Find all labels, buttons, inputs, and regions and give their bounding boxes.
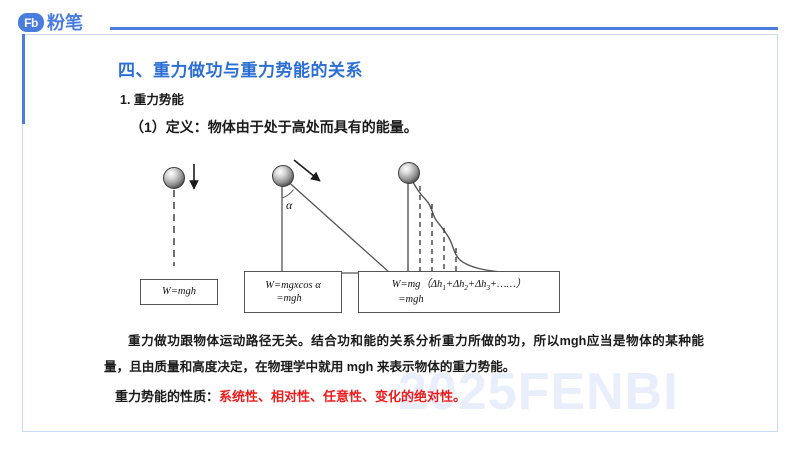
formula-boxes-row: W=mgh W=mgxcos α =mgh W=mg（Δh1+Δh2+Δh3+…… (140, 271, 560, 313)
fenbi-logo-icon: Fb (18, 13, 44, 32)
formula-incline-line2: =mgh (276, 292, 301, 305)
angle-label: α (286, 198, 293, 212)
properties-value: 系统性、相对性、任意性、变化的绝对性。 (219, 389, 466, 404)
angle-arc (282, 190, 294, 199)
ball-icon (399, 163, 420, 184)
page-title: 四、重力做功与重力势能的关系 (118, 56, 363, 81)
diagram-curved-path (399, 163, 513, 274)
body-paragraph: 重力做功跟物体运动路径无关。结合功和能的关系分析重力所做的功，所以mgh应当是物… (104, 328, 704, 380)
formula-box-incline: W=mgxcos α =mgh (244, 271, 342, 313)
curved-slope-line (409, 175, 512, 273)
section-subheading: 1. 重力势能 (120, 89, 184, 108)
formula-box-free-fall: W=mgh (140, 279, 218, 305)
incline-force-arrow-icon (294, 160, 320, 181)
fenbi-logo: Fb 粉笔 (18, 13, 89, 32)
formula-curved-m2: +Δh (468, 279, 487, 290)
properties-label: 重力势能的性质： (115, 389, 219, 404)
incline-slope-edge (284, 178, 390, 273)
ball-icon (273, 166, 294, 187)
slide-canvas: 2025FENBI Fb 粉笔 四、重力做功与重力势能的关系 1. 重力势能 （… (0, 0, 800, 450)
formula-incline-line1: W=mgxcos α (265, 279, 320, 292)
diagram-free-fall (164, 164, 195, 266)
formula-curved-p2: +……） (490, 279, 526, 290)
ball-icon (164, 168, 185, 189)
formula-box-curved: W=mg（Δh1+Δh2+Δh3+……） =mgh (358, 271, 560, 313)
fenbi-logo-label: 粉笔 (47, 14, 83, 32)
formula-curved-m1: +Δh (446, 279, 465, 290)
formula-curved-line2: =mgh (398, 293, 423, 306)
properties-line: 重力势能的性质：系统性、相对性、任意性、变化的绝对性。 (115, 386, 466, 405)
formula-curved-p1: W=mg（Δh (392, 279, 443, 290)
definition-line: （1）定义：物体由于处于高处而具有的能量。 (130, 117, 418, 137)
formula-curved-line1: W=mg（Δh1+Δh2+Δh3+……） (392, 278, 527, 293)
formula-free-fall-line1: W=mgh (162, 285, 196, 298)
diagram-inclined-plane: α (273, 160, 391, 273)
